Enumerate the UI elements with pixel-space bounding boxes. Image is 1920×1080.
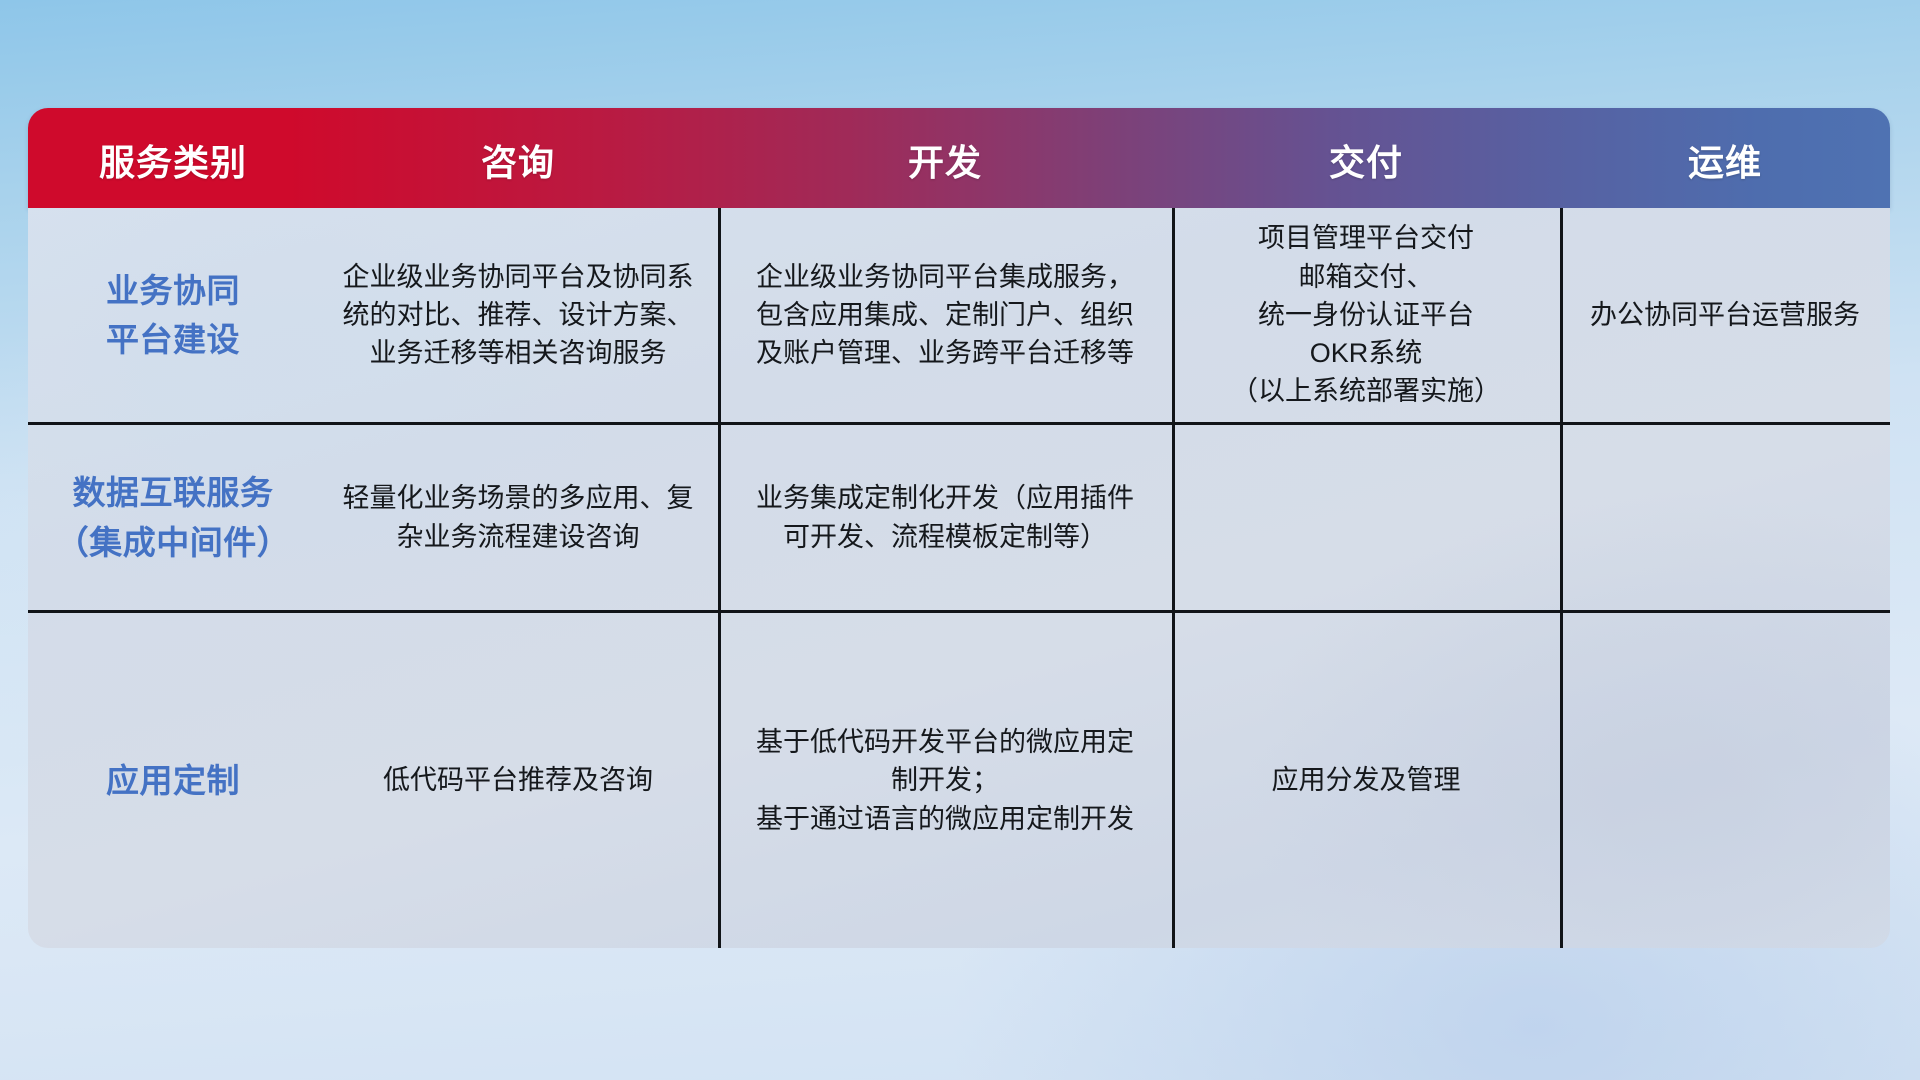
column-header-category: 服务类别 bbox=[28, 134, 318, 208]
cell-category: 数据互联服务 （集成中间件） bbox=[28, 468, 318, 567]
column-header-consulting: 咨询 bbox=[318, 134, 718, 208]
table-body: 业务协同 平台建设 企业级业务协同平台及协同系 统的对比、推荐、设计方案、 业务… bbox=[28, 208, 1890, 948]
cell-development: 基于低代码开发平台的微应用定 制开发； 基于通过语言的微应用定制开发 bbox=[718, 723, 1172, 838]
cell-consulting: 低代码平台推荐及咨询 bbox=[318, 761, 718, 799]
cell-operations: 办公协同平台运营服务 bbox=[1560, 296, 1890, 334]
cell-category: 应用定制 bbox=[28, 756, 318, 806]
service-matrix-table: 服务类别 咨询 开发 交付 运维 业务协同 平台建设 企业级业务协同平台及协同系… bbox=[28, 108, 1890, 948]
table-header-row: 服务类别 咨询 开发 交付 运维 bbox=[28, 108, 1890, 208]
cell-delivery: 应用分发及管理 bbox=[1172, 761, 1560, 799]
cell-delivery: 项目管理平台交付 邮箱交付、 统一身份认证平台 OKR系统 （以上系统部署实施） bbox=[1172, 219, 1560, 411]
column-header-development: 开发 bbox=[718, 134, 1172, 208]
cell-category: 业务协同 平台建设 bbox=[28, 266, 318, 365]
cell-development: 业务集成定制化开发（应用插件 可开发、流程模板定制等） bbox=[718, 479, 1172, 556]
cell-consulting: 企业级业务协同平台及协同系 统的对比、推荐、设计方案、 业务迁移等相关咨询服务 bbox=[318, 258, 718, 373]
table-row: 数据互联服务 （集成中间件） 轻量化业务场景的多应用、复 杂业务流程建设咨询 业… bbox=[28, 424, 1890, 611]
column-header-delivery: 交付 bbox=[1172, 134, 1560, 208]
cell-development: 企业级业务协同平台集成服务， 包含应用集成、定制门户、组织 及账户管理、业务跨平… bbox=[718, 258, 1172, 373]
table-row: 业务协同 平台建设 企业级业务协同平台及协同系 统的对比、推荐、设计方案、 业务… bbox=[28, 208, 1890, 422]
column-header-operations: 运维 bbox=[1560, 134, 1890, 208]
cell-consulting: 轻量化业务场景的多应用、复 杂业务流程建设咨询 bbox=[318, 479, 718, 556]
table-row: 应用定制 低代码平台推荐及咨询 基于低代码开发平台的微应用定 制开发； 基于通过… bbox=[28, 613, 1890, 948]
